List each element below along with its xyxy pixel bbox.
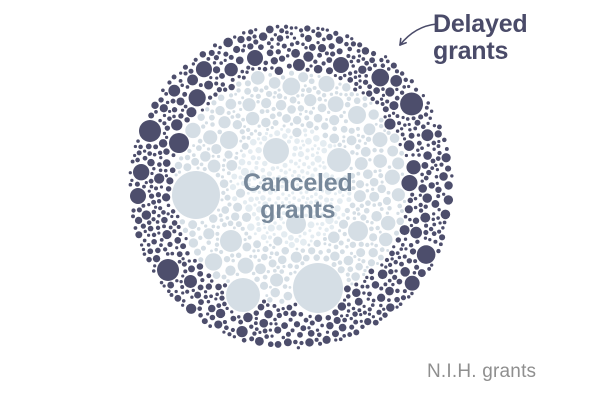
delayed-grant-bubble bbox=[333, 57, 349, 73]
canceled-grant-bubble bbox=[350, 150, 355, 155]
delayed-grant-bubble bbox=[210, 279, 214, 283]
delayed-grant-bubble bbox=[189, 89, 206, 106]
canceled-grant-bubble bbox=[315, 188, 318, 191]
delayed-grant-bubble bbox=[403, 255, 407, 259]
canceled-grant-bubble bbox=[274, 130, 280, 136]
canceled-grant-bubble bbox=[238, 101, 242, 105]
delayed-grant-bubble bbox=[160, 104, 168, 112]
canceled-grant-bubble bbox=[284, 96, 287, 99]
delayed-grant-bubble bbox=[350, 60, 354, 64]
canceled-grant-bubble bbox=[265, 132, 268, 135]
delayed-grant-bubble bbox=[351, 64, 355, 68]
delayed-grant-bubble bbox=[164, 92, 168, 96]
canceled-grant-bubble bbox=[309, 78, 315, 84]
delayed-grant-bubble bbox=[198, 313, 203, 318]
delayed-grant-bubble bbox=[436, 182, 439, 185]
canceled-grant-bubble bbox=[279, 269, 284, 274]
canceled-grant-bubble bbox=[253, 87, 259, 93]
canceled-grant-bubble bbox=[209, 214, 218, 223]
delayed-grant-bubble bbox=[276, 308, 280, 312]
delayed-grant-bubble bbox=[395, 96, 400, 101]
delayed-grant-bubble bbox=[444, 181, 452, 189]
delayed-grant-bubble bbox=[224, 325, 229, 330]
delayed-grant-bubble bbox=[323, 336, 331, 344]
delayed-grant-bubble bbox=[375, 100, 379, 104]
delayed-grant-bubble bbox=[424, 176, 429, 181]
canceled-grant-bubble bbox=[220, 131, 238, 149]
delayed-grant-bubble bbox=[223, 320, 227, 324]
canceled-grant-bubble bbox=[295, 207, 300, 212]
canceled-grant-bubble bbox=[284, 204, 289, 209]
delayed-grant-bubble bbox=[147, 243, 151, 247]
canceled-grant-bubble bbox=[330, 198, 333, 201]
delayed-grant-bubble bbox=[385, 258, 389, 262]
delayed-grant-bubble bbox=[174, 237, 181, 244]
delayed-grant-bubble bbox=[401, 295, 406, 300]
canceled-grant-bubble bbox=[298, 235, 301, 238]
delayed-grant-bubble bbox=[405, 154, 408, 157]
delayed-grant-bubble bbox=[154, 173, 164, 183]
delayed-grant-bubble bbox=[274, 327, 281, 334]
canceled-grant-bubble bbox=[252, 249, 255, 252]
delayed-grant-bubble bbox=[419, 203, 423, 207]
canceled-grant-bubble bbox=[212, 225, 216, 229]
delayed-grant-bubble bbox=[343, 74, 346, 77]
canceled-grant-bubble bbox=[323, 208, 327, 212]
delayed-grant-bubble bbox=[432, 231, 437, 236]
canceled-grant-bubble bbox=[227, 171, 231, 175]
delayed-grant-bubble bbox=[317, 332, 322, 337]
delayed-grant-bubble bbox=[318, 44, 326, 52]
delayed-grant-bubble bbox=[223, 52, 228, 57]
delayed-grant-bubble bbox=[230, 310, 233, 313]
delayed-grant-bubble bbox=[295, 41, 299, 45]
delayed-grant-bubble bbox=[291, 49, 300, 58]
canceled-grant-bubble bbox=[278, 204, 281, 207]
canceled-grant-bubble bbox=[378, 169, 381, 172]
delayed-grant-bubble bbox=[185, 237, 188, 240]
delayed-grant-bubble bbox=[170, 293, 174, 297]
delayed-grant-bubble bbox=[399, 247, 403, 251]
canceled-grant-bubble bbox=[356, 172, 360, 176]
delayed-grant-bubble bbox=[442, 193, 445, 196]
delayed-grant-bubble bbox=[242, 338, 247, 343]
delayed-grant-bubble bbox=[363, 305, 366, 308]
delayed-grant-bubble bbox=[400, 225, 410, 235]
delayed-grant-bubble bbox=[214, 320, 222, 328]
canceled-grant-bubble bbox=[308, 182, 311, 185]
delayed-grant-bubble bbox=[360, 320, 363, 323]
delayed-grant-bubble bbox=[357, 49, 361, 53]
delayed-grant-bubble bbox=[350, 37, 353, 40]
canceled-grant-bubble bbox=[276, 211, 281, 216]
delayed-grant-bubble bbox=[251, 67, 254, 70]
canceled-grant-bubble bbox=[242, 98, 255, 111]
canceled-grant-bubble bbox=[242, 143, 249, 150]
canceled-grant-bubble bbox=[373, 170, 377, 174]
delayed-grant-bubble bbox=[163, 159, 171, 167]
delayed-grant-bubble bbox=[236, 57, 244, 65]
canceled-grant-bubble bbox=[369, 226, 374, 231]
canceled-grant-bubble bbox=[268, 205, 273, 210]
canceled-grant-bubble bbox=[318, 195, 323, 200]
delayed-grant-bubble bbox=[215, 293, 219, 297]
delayed-grant-bubble bbox=[142, 210, 151, 219]
delayed-grant-bubble bbox=[170, 252, 174, 256]
delayed-grant-bubble bbox=[414, 206, 418, 210]
canceled-grant-bubble bbox=[297, 101, 300, 104]
canceled-grant-bubble bbox=[226, 99, 237, 110]
canceled-grant-bubble bbox=[396, 217, 404, 225]
delayed-grant-bubble bbox=[178, 232, 182, 236]
canceled-grant-bubble bbox=[273, 237, 282, 246]
canceled-grant-bubble bbox=[338, 229, 341, 232]
delayed-grant-bubble bbox=[255, 327, 259, 331]
canceled-grant-bubble bbox=[396, 212, 399, 215]
canceled-grant-bubble bbox=[299, 113, 302, 116]
delayed-grant-bubble bbox=[411, 153, 414, 156]
canceled-grant-bubble bbox=[269, 214, 276, 221]
canceled-grant-bubble bbox=[281, 180, 284, 183]
canceled-grant-bubble bbox=[361, 135, 365, 139]
canceled-grant-bubble bbox=[247, 136, 251, 140]
canceled-grant-bubble bbox=[200, 163, 204, 167]
delayed-grant-bubble bbox=[194, 292, 201, 299]
delayed-grant-bubble bbox=[427, 144, 430, 147]
delayed-grant-bubble bbox=[131, 208, 135, 212]
delayed-grant-bubble bbox=[208, 95, 212, 99]
canceled-grant-bubble bbox=[288, 194, 291, 197]
canceled-grant-bubble bbox=[247, 161, 251, 165]
delayed-grant-bubble bbox=[151, 102, 158, 109]
delayed-grant-bubble bbox=[219, 296, 224, 301]
delayed-grant-bubble bbox=[392, 112, 395, 115]
delayed-grant-bubble bbox=[169, 225, 173, 229]
delayed-grant-bubble bbox=[418, 114, 423, 119]
delayed-grant-bubble bbox=[342, 334, 346, 338]
canceled-grant-bubble bbox=[273, 233, 276, 236]
canceled-grant-bubble bbox=[327, 148, 351, 172]
delayed-grant-bubble bbox=[404, 238, 407, 241]
delayed-grant-bubble bbox=[179, 71, 182, 74]
delayed-grant-bubble bbox=[168, 85, 180, 97]
delayed-grant-bubble bbox=[372, 299, 376, 303]
delayed-grant-bubble bbox=[146, 143, 152, 149]
canceled-grant-bubble bbox=[265, 294, 268, 297]
delayed-grant-bubble bbox=[316, 41, 319, 44]
delayed-grant-bubble bbox=[430, 166, 434, 170]
canceled-grant-bubble bbox=[230, 115, 234, 119]
canceled-grant-bubble bbox=[279, 299, 284, 304]
delayed-grant-bubble bbox=[442, 153, 451, 162]
delayed-grant-bubble bbox=[334, 317, 341, 324]
delayed-grant-bubble bbox=[372, 281, 380, 289]
canceled-grant-bubble bbox=[310, 74, 314, 78]
canceled-grant-bubble bbox=[270, 274, 283, 287]
canceled-grant-bubble bbox=[326, 249, 331, 254]
canceled-grant-bubble bbox=[288, 235, 294, 241]
canceled-grant-bubble bbox=[260, 282, 268, 290]
canceled-grant-bubble bbox=[285, 185, 288, 188]
delayed-grant-bubble bbox=[223, 283, 227, 287]
canceled-grant-bubble bbox=[288, 263, 293, 268]
canceled-grant-bubble bbox=[310, 195, 313, 198]
canceled-grant-bubble bbox=[250, 186, 257, 193]
delayed-grant-bubble bbox=[214, 55, 219, 60]
delayed-grant-bubble bbox=[200, 278, 204, 282]
canceled-grant-bubble bbox=[246, 112, 259, 125]
canceled-grant-bubble bbox=[269, 259, 277, 267]
canceled-grant-bubble bbox=[278, 256, 287, 265]
canceled-grant-bubble bbox=[320, 222, 324, 226]
delayed-grant-bubble bbox=[188, 265, 195, 272]
delayed-grant-bubble bbox=[431, 200, 439, 208]
delayed-grant-bubble bbox=[150, 172, 153, 175]
delayed-grant-bubble bbox=[424, 224, 428, 228]
canceled-grant-bubble bbox=[240, 129, 245, 134]
canceled-grant-bubble bbox=[202, 144, 205, 147]
canceled-grant-bubble bbox=[273, 96, 276, 99]
canceled-grant-bubble bbox=[350, 167, 353, 170]
canceled-grant-bubble bbox=[318, 227, 321, 230]
delayed-grant-bubble bbox=[364, 318, 371, 325]
canceled-grant-bubble bbox=[255, 197, 259, 201]
delayed-grant-bubble bbox=[437, 125, 442, 130]
delayed-grant-bubble bbox=[163, 148, 169, 154]
delayed-grant-bubble bbox=[409, 243, 413, 247]
delayed-grant-bubble bbox=[222, 302, 227, 307]
canceled-grant-bubble bbox=[337, 216, 340, 219]
canceled-grant-bubble bbox=[216, 238, 219, 241]
canceled-grant-bubble bbox=[322, 93, 326, 97]
canceled-grant-bubble bbox=[349, 92, 354, 97]
canceled-grant-bubble bbox=[319, 180, 323, 184]
canceled-grant-bubble bbox=[236, 81, 241, 86]
canceled-grant-bubble bbox=[270, 251, 274, 255]
canceled-grant-bubble bbox=[370, 221, 374, 225]
delayed-grant-bubble bbox=[360, 285, 364, 289]
canceled-grant-bubble bbox=[253, 177, 257, 181]
canceled-grant-bubble bbox=[189, 230, 196, 237]
canceled-grant-bubble bbox=[400, 209, 404, 213]
canceled-grant-bubble bbox=[328, 96, 344, 112]
canceled-grant-bubble bbox=[201, 246, 206, 251]
canceled-grant-bubble bbox=[220, 198, 223, 201]
delayed-grant-bubble bbox=[409, 133, 415, 139]
delayed-grant-bubble bbox=[162, 121, 166, 125]
delayed-grant-bubble bbox=[353, 87, 357, 91]
delayed-grant-bubble bbox=[385, 99, 389, 103]
canceled-grant-bubble bbox=[215, 232, 219, 236]
delayed-grant-bubble bbox=[187, 75, 198, 86]
canceled-grant-bubble bbox=[305, 190, 309, 194]
delayed-grant-bubble bbox=[391, 63, 397, 69]
delayed-grant-bubble bbox=[358, 79, 361, 82]
canceled-grant-bubble bbox=[350, 252, 353, 255]
canceled-grant-bubble bbox=[262, 161, 267, 166]
canceled-grant-bubble bbox=[333, 186, 337, 190]
delayed-grant-bubble bbox=[175, 279, 178, 282]
delayed-grant-bubble bbox=[432, 218, 435, 221]
delayed-grant-bubble bbox=[192, 62, 195, 65]
delayed-grant-bubble bbox=[439, 234, 445, 240]
delayed-grant-bubble bbox=[180, 243, 186, 249]
delayed-grant-bubble bbox=[270, 335, 273, 338]
canceled-grant-bubble bbox=[354, 97, 361, 104]
delayed-grant-bubble bbox=[162, 230, 171, 239]
delayed-grant-bubble bbox=[401, 243, 405, 247]
canceled-grant-bubble bbox=[349, 173, 355, 179]
delayed-grant-bubble bbox=[387, 67, 391, 71]
delayed-grant-bubble bbox=[306, 68, 310, 72]
delayed-grant-bubble bbox=[217, 87, 222, 92]
delayed-grant-bubble bbox=[146, 257, 151, 262]
delayed-grant-bubble bbox=[401, 116, 404, 119]
canceled-grant-bubble bbox=[223, 159, 226, 162]
delayed-grant-bubble bbox=[135, 182, 140, 187]
canceled-grant-bubble bbox=[376, 262, 379, 265]
delayed-grant-bubble bbox=[286, 54, 289, 57]
canceled-grant-bubble bbox=[268, 224, 275, 231]
delayed-grant-bubble bbox=[337, 48, 343, 54]
canceled-grant-bubble bbox=[314, 199, 318, 203]
delayed-grant-bubble bbox=[394, 297, 400, 303]
delayed-grant-bubble bbox=[144, 230, 147, 233]
canceled-grant-bubble bbox=[291, 191, 294, 194]
delayed-grant-bubble bbox=[165, 136, 168, 139]
delayed-grant-bubble bbox=[258, 44, 264, 50]
canceled-grant-bubble bbox=[352, 211, 356, 215]
canceled-grant-bubble bbox=[381, 216, 395, 230]
canceled-grant-bubble bbox=[226, 188, 229, 191]
delayed-grant-bubble bbox=[130, 188, 146, 204]
delayed-grant-bubble bbox=[172, 115, 176, 119]
canceled-grant-bubble bbox=[325, 216, 333, 224]
canceled-grant-bubble bbox=[191, 158, 199, 166]
delayed-grant-bubble bbox=[281, 322, 288, 329]
canceled-grant-bubble bbox=[276, 196, 280, 200]
canceled-grant-bubble bbox=[269, 286, 272, 289]
canceled-grant-bubble bbox=[321, 189, 324, 192]
canceled-grant-bubble bbox=[204, 224, 207, 227]
delayed-grant-bubble bbox=[152, 269, 156, 273]
delayed-grant-bubble bbox=[330, 51, 335, 56]
delayed-grant-bubble bbox=[421, 162, 428, 169]
delayed-grant-bubble bbox=[131, 160, 135, 164]
delayed-grant-bubble bbox=[407, 258, 412, 263]
delayed-grant-bubble bbox=[170, 215, 173, 218]
canceled-grant-bubble bbox=[363, 123, 375, 135]
canceled-grant-bubble bbox=[228, 221, 234, 227]
delayed-grant-bubble bbox=[233, 46, 240, 53]
canceled-grant-bubble bbox=[324, 228, 328, 232]
canceled-grant-bubble bbox=[293, 170, 297, 174]
delayed-grant-bubble bbox=[231, 78, 235, 82]
canceled-grant-bubble bbox=[256, 94, 261, 99]
canceled-grant-bubble bbox=[365, 243, 369, 247]
canceled-grant-bubble bbox=[294, 138, 300, 144]
canceled-grant-bubble bbox=[258, 132, 262, 136]
delayed-grant-bubble bbox=[408, 128, 411, 131]
canceled-grant-bubble bbox=[290, 185, 293, 188]
canceled-grant-bubble bbox=[273, 221, 277, 225]
delayed-grant-bubble bbox=[159, 139, 168, 148]
arrow-head bbox=[400, 39, 401, 45]
canceled-grant-bubble bbox=[206, 240, 211, 245]
canceled-grant-bubble bbox=[289, 159, 293, 163]
delayed-grant-bubble bbox=[370, 276, 374, 280]
delayed-grant-bubble bbox=[394, 260, 398, 264]
delayed-grant-bubble bbox=[279, 55, 285, 61]
canceled-grant-bubble bbox=[207, 147, 210, 150]
delayed-grant-bubble bbox=[413, 127, 417, 131]
delayed-grant-bubble bbox=[314, 65, 323, 74]
canceled-grant-bubble bbox=[252, 272, 256, 276]
delayed-grant-bubble bbox=[439, 172, 448, 181]
delayed-grant-bubble bbox=[290, 42, 294, 46]
canceled-grant-bubble bbox=[245, 80, 251, 86]
delayed-grant-bubble bbox=[143, 149, 146, 152]
delayed-grant-bubble bbox=[356, 59, 360, 63]
canceled-grant-bubble bbox=[229, 93, 233, 97]
canceled-grant-bubble bbox=[324, 197, 329, 202]
delayed-grant-bubble bbox=[236, 326, 247, 337]
canceled-grant-bubble bbox=[303, 128, 307, 132]
canceled-grant-bubble bbox=[377, 185, 386, 194]
canceled-grant-bubble bbox=[298, 151, 304, 157]
canceled-grant-bubble bbox=[350, 242, 356, 248]
canceled-grant-bubble bbox=[267, 270, 270, 273]
delayed-grant-bubble bbox=[182, 299, 186, 303]
canceled-grant-bubble bbox=[316, 151, 319, 154]
delayed-grant-bubble bbox=[147, 248, 153, 254]
canceled-grant-bubble bbox=[284, 197, 288, 201]
canceled-grant-bubble bbox=[317, 147, 320, 150]
delayed-grant-bubble bbox=[366, 90, 372, 96]
canceled-grant-bubble bbox=[397, 204, 402, 209]
delayed-grant-bubble bbox=[349, 325, 354, 330]
delayed-grant-bubble bbox=[274, 33, 277, 36]
canceled-grant-bubble bbox=[347, 278, 351, 282]
canceled-grant-bubble bbox=[346, 197, 351, 202]
delayed-grant-bubble bbox=[267, 49, 274, 56]
delayed-grant-bubble bbox=[254, 28, 257, 31]
delayed-grant-bubble bbox=[433, 240, 437, 244]
canceled-grant-bubble bbox=[357, 134, 360, 137]
delayed-grant-bubble bbox=[223, 38, 233, 48]
delayed-grant-bubble bbox=[206, 283, 212, 289]
delayed-grant-bubble bbox=[158, 151, 162, 155]
delayed-grant-bubble bbox=[424, 205, 428, 209]
canceled-grant-bubble bbox=[300, 180, 304, 184]
delayed-grant-bubble bbox=[400, 127, 403, 130]
delayed-grant-bubble bbox=[282, 44, 287, 49]
canceled-grant-bubble bbox=[211, 144, 221, 154]
canceled-grant-bubble bbox=[378, 173, 383, 178]
delayed-grant-bubble bbox=[293, 59, 305, 71]
canceled-grant-bubble bbox=[235, 152, 238, 155]
canceled-grant-bubble bbox=[340, 249, 345, 254]
canceled-grant-bubble bbox=[291, 203, 295, 207]
delayed-grant-bubble bbox=[437, 140, 440, 143]
delayed-grant-bubble bbox=[242, 76, 246, 80]
canceled-grant-bubble bbox=[183, 163, 191, 171]
delayed-grant-bubble bbox=[270, 45, 274, 49]
delayed-grant-bubble bbox=[224, 63, 237, 76]
canceled-grant-bubble bbox=[230, 253, 234, 257]
delayed-grant-bubble bbox=[401, 175, 417, 191]
delayed-grant-bubble bbox=[443, 221, 447, 225]
